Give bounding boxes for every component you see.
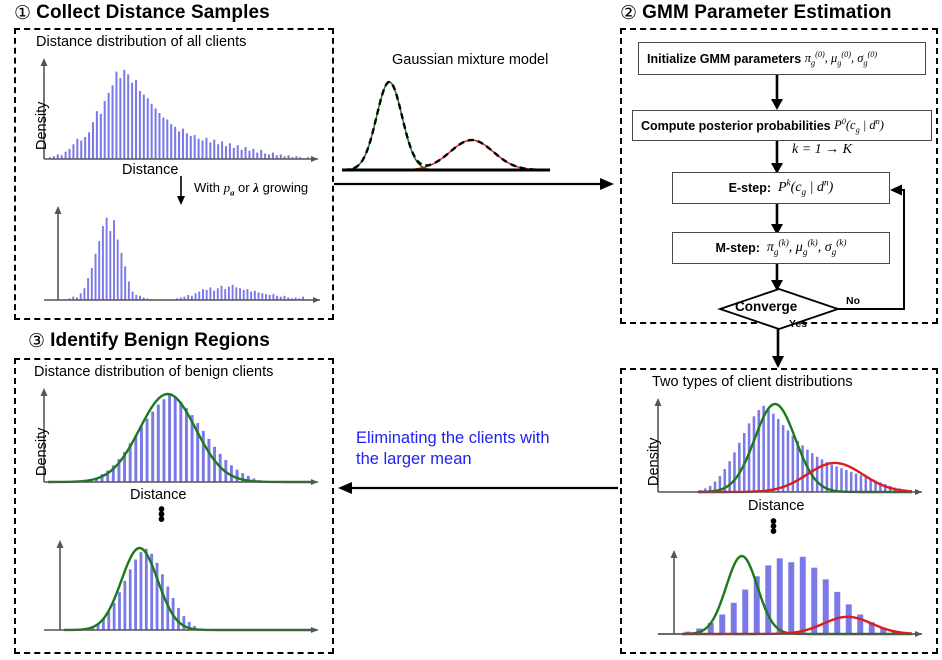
- section-1-title: Collect Distance Samples: [36, 2, 270, 24]
- branch-label-no: No: [846, 295, 860, 307]
- loop-label-k: k = 1 → K: [792, 142, 852, 158]
- chart-all-clients-hist-grown: [28, 200, 328, 312]
- section-2-heading: ② GMM Parameter Estimation: [620, 2, 892, 24]
- mstep-symbols: πg(k), μg(k), σg(k): [767, 240, 847, 256]
- panel-benign-clients-title: Distance distribution of benign clients: [34, 364, 273, 380]
- branch-label-yes: Yes: [789, 318, 807, 330]
- section-3-heading: ③ Identify Benign Regions: [28, 330, 270, 352]
- panel-two-types-title: Two types of client distributions: [652, 374, 853, 390]
- growing-annotation: With pa or λ growing: [194, 180, 308, 196]
- chart-two-types-hist-2: [640, 546, 930, 646]
- eliminate-annotation: Eliminating the clients with the larger …: [356, 428, 550, 470]
- eliminate-line-1: Eliminating the clients with: [356, 429, 550, 447]
- two-types-ylabel: Density: [646, 438, 662, 486]
- section-2-number: ②: [620, 4, 637, 23]
- flow-box-posterior[interactable]: Compute posterior probabilities P0(cg | …: [632, 110, 932, 141]
- chart-benign-clients-hist: [28, 382, 328, 494]
- section-3-title: Identify Benign Regions: [50, 330, 270, 352]
- section-2-title: GMM Parameter Estimation: [642, 2, 891, 24]
- chart-all-clients-hist: [28, 52, 328, 170]
- section-3-number: ③: [28, 332, 45, 351]
- chart-gaussian-mixture-model: [338, 70, 610, 180]
- gmm-mini-title: Gaussian mixture model: [392, 52, 548, 68]
- flow-box-initialize[interactable]: Initialize GMM parameters πg(0), μg(0), …: [638, 42, 926, 75]
- benign-clients-ylabel: Density: [34, 428, 50, 476]
- chart-two-types-hist: [640, 392, 930, 504]
- panel-all-clients-title: Distance distribution of all clients: [36, 34, 246, 50]
- arrow-step1-to-step2: [334, 176, 618, 192]
- section-1-heading: ① Collect Distance Samples: [14, 2, 270, 24]
- arrow-step2-to-step3: [336, 480, 618, 496]
- posterior-expr: P0(cg | dn): [834, 118, 884, 133]
- init-symbols: πg(0), μg(0), σg(0): [805, 51, 877, 66]
- arrow-posterior-to-estep-icon: [771, 141, 785, 175]
- arrow-converge-to-two-types: [772, 328, 788, 370]
- flow-loop-no-branch: [836, 186, 942, 312]
- section-1-number: ①: [14, 4, 31, 23]
- two-types-vertical-ellipsis: •••: [770, 520, 777, 535]
- benign-vertical-ellipsis: •••: [158, 508, 165, 523]
- all-clients-ylabel: Density: [34, 102, 50, 150]
- chart-benign-clients-hist-2: [28, 534, 328, 642]
- estep-expr: Pk(cg | dn): [778, 180, 833, 196]
- converge-label: Converge: [735, 299, 797, 314]
- arrow-init-to-posterior-icon: [771, 75, 785, 111]
- all-clients-xlabel: Distance: [122, 162, 178, 178]
- eliminate-line-2: the larger mean: [356, 450, 472, 468]
